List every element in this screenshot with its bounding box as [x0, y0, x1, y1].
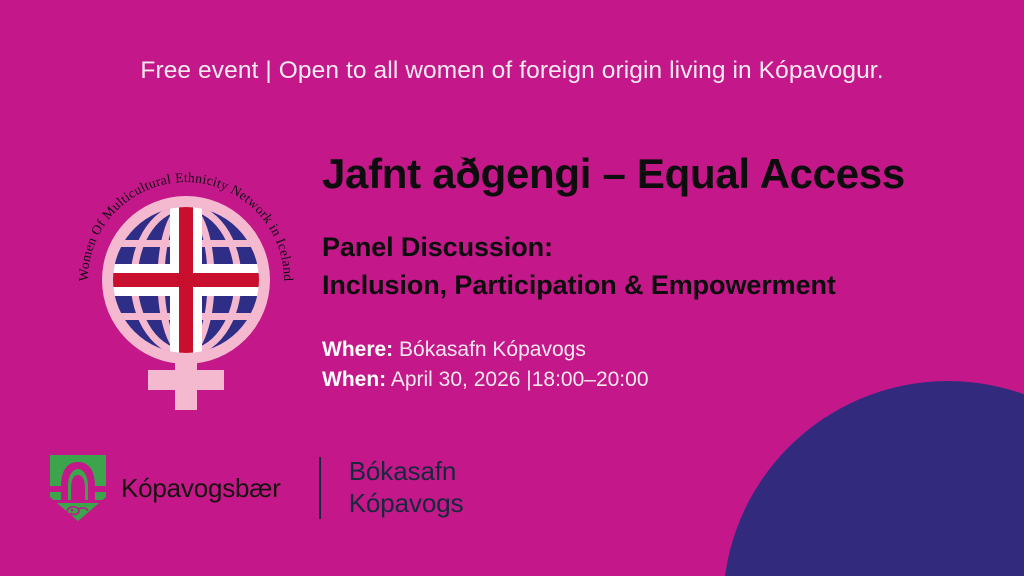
event-title: Jafnt aðgengi – Equal Access — [322, 152, 982, 196]
municipality-name: Kópavogsbær — [121, 473, 281, 504]
detail-value-when: April 30, 2026 |18:00–20:00 — [386, 368, 648, 391]
detail-value-where: Bókasafn Kópavogs — [393, 338, 586, 361]
detail-row-when: When: April 30, 2026 |18:00–20:00 — [322, 365, 982, 395]
event-poster: Free event | Open to all women of foreig… — [0, 0, 1024, 576]
kopavogur-crest-icon — [50, 455, 106, 521]
event-subtitle-block: Panel Discussion: Inclusion, Participati… — [322, 228, 982, 305]
event-subtitle-line-1: Panel Discussion: — [322, 228, 982, 266]
detail-row-where: Where: Bókasafn Kópavogs — [322, 335, 982, 365]
partner-logos: Kópavogsbær Bókasafn Kópavogs — [50, 450, 464, 526]
event-details-block: Where: Bókasafn Kópavogs When: April 30,… — [322, 335, 982, 395]
partner-divider — [319, 457, 321, 519]
women-network-logo: Women Of Multicultural Ethnicity Network… — [72, 132, 300, 412]
detail-label-where: Where: — [322, 338, 393, 361]
decorative-circle — [723, 381, 1024, 576]
library-name-line-1: Bókasafn — [349, 456, 464, 488]
women-network-logo-graphic: Women Of Multicultural Ethnicity Network… — [72, 132, 300, 412]
event-subtitle-line-2: Inclusion, Participation & Empowerment — [322, 266, 982, 304]
library-name-line-2: Kópavogs — [349, 488, 464, 520]
event-tagline: Free event | Open to all women of foreig… — [0, 56, 1024, 85]
detail-label-when: When: — [322, 368, 386, 391]
venus-crossbar — [148, 370, 224, 390]
main-text-column: Jafnt aðgengi – Equal Access Panel Discu… — [322, 152, 982, 394]
library-name: Bókasafn Kópavogs — [349, 456, 464, 520]
